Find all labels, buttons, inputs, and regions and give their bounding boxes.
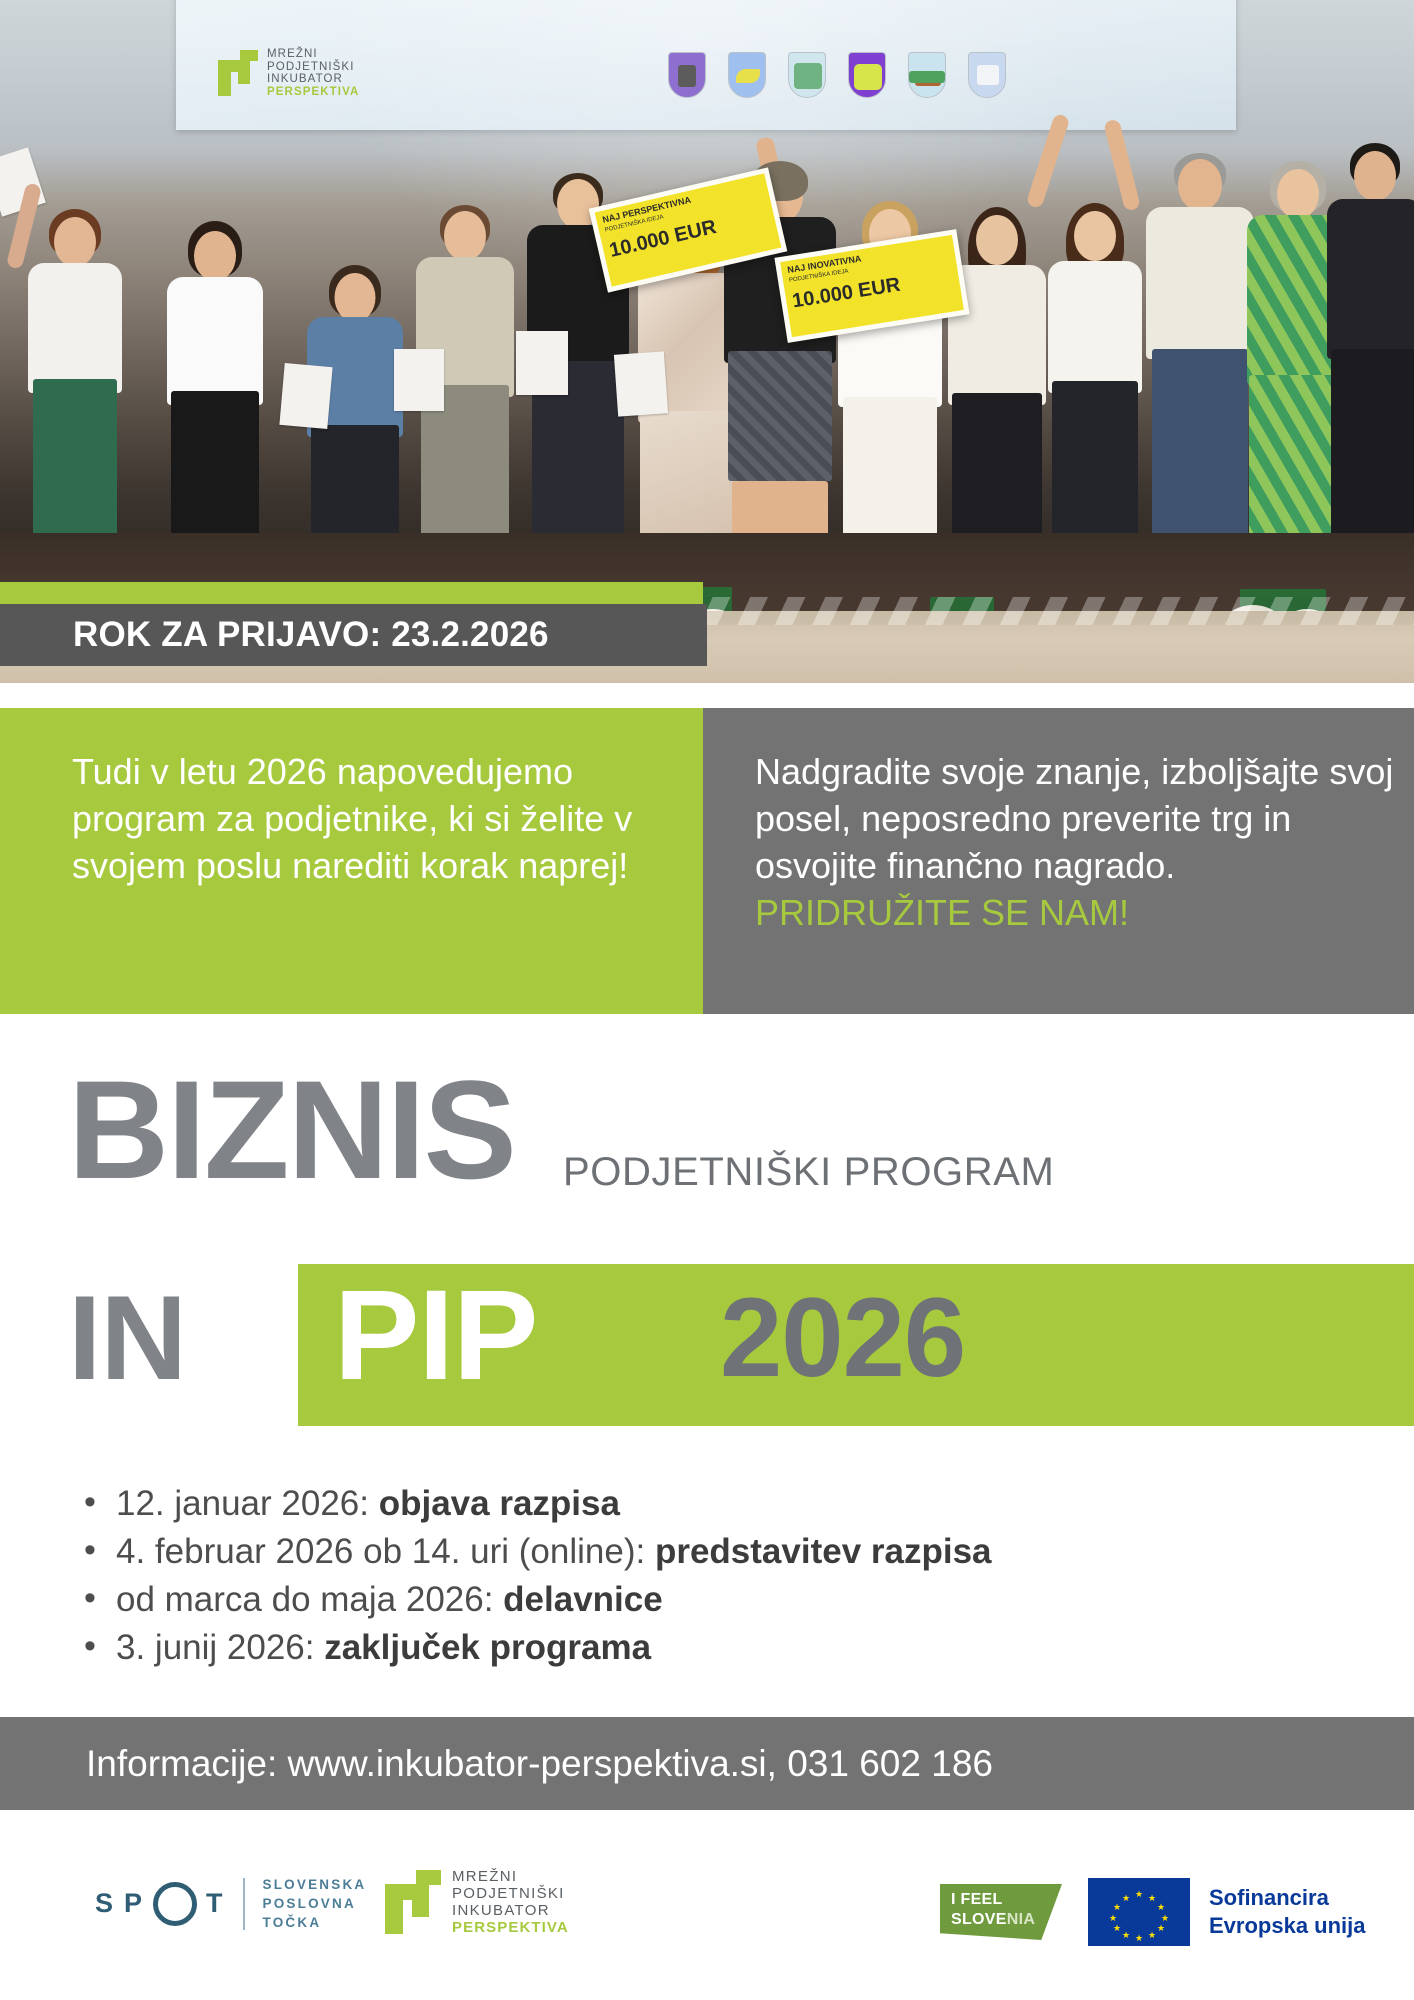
i-feel-slovenia-shape: I FEEL SLOVENIA [940, 1884, 1062, 1940]
person [10, 165, 140, 565]
intro-panels: Tudi v letu 2026 napovedujemo program za… [0, 708, 1414, 1014]
panel-green-text: Tudi v letu 2026 napovedujemo program za… [72, 748, 703, 889]
info-banner: Informacije: www.inkubator-perspektiva.s… [0, 1717, 1414, 1810]
panel-gray-cta: PRIDRUŽITE SE NAM! [755, 889, 1414, 936]
title-block: BIZNIS PODJETNIŠKI PROGRAM IN PIP 2026 [0, 1060, 1414, 1440]
i-feel-line2-rest: NIA [1007, 1911, 1035, 1928]
title-word-in: IN [68, 1278, 186, 1398]
i-feel-line2-strong: SLOVE [951, 1911, 1007, 1928]
spot-tagline: SLOVENSKA POSLOVNA TOČKA [263, 1875, 367, 1932]
panel-gray-text: Nadgradite svoje znanje, izboljšajte svo… [755, 748, 1414, 889]
perspektiva-line2: PODJETNIŠKI [452, 1885, 569, 1902]
deadline-banner: ROK ZA PRIJAVO: 23.2.2026 [0, 604, 707, 666]
schedule-date: od marca do maja 2026: [116, 1580, 503, 1619]
spot-wordmark: S P T [95, 1882, 225, 1926]
info-text[interactable]: Informacije: www.inkubator-perspektiva.s… [86, 1743, 993, 1785]
coat-of-arms-icon [728, 52, 766, 98]
title-word-biznis: BIZNIS [68, 1060, 515, 1200]
title-year: 2026 [720, 1282, 965, 1394]
municipal-coats-of-arms [668, 52, 1006, 98]
coat-of-arms-icon [908, 52, 946, 98]
title-word-pip: PIP [334, 1272, 537, 1400]
person [150, 173, 280, 565]
schedule-date: 3. junij 2026: [116, 1628, 324, 1667]
spot-divider [243, 1878, 245, 1930]
spot-letter-t: T [206, 1888, 225, 1919]
hero-photo: MREŽNI PODJETNIŠKI INKUBATOR PERSPEKTIVA [0, 0, 1414, 683]
perspektiva-mark-icon [218, 50, 258, 96]
spot-tagline-line2: POSLOVNA [263, 1894, 367, 1913]
screen-logo-line2: PODJETNIŠKI [267, 61, 359, 74]
deadline-accent-stripe [0, 582, 703, 604]
list-item: od marca do maja 2026: delavnice [70, 1576, 1390, 1624]
perspektiva-line1: MREŽNI [452, 1868, 569, 1885]
perspektiva-mark-icon [385, 1870, 441, 1934]
panel-gray: Nadgradite svoje znanje, izboljšajte svo… [703, 708, 1414, 1014]
perspektiva-logo: MREŽNI PODJETNIŠKI INKUBATOR PERSPEKTIVA [385, 1868, 569, 1936]
deadline-label: ROK ZA PRIJAVO: 23.2.2026 [73, 615, 549, 655]
coat-of-arms-icon [848, 52, 886, 98]
spot-tagline-line1: SLOVENSKA [263, 1875, 367, 1894]
schedule-date: 4. februar 2026 ob 14. uri (online): [116, 1532, 655, 1571]
spot-letter-p: P [124, 1888, 144, 1919]
spot-letter-s: S [95, 1888, 115, 1919]
perspektiva-line4: PERSPEKTIVA [452, 1919, 569, 1936]
screen-logo-text: MREŽNI PODJETNIŠKI INKUBATOR PERSPEKTIVA [267, 48, 359, 98]
spot-circle-icon [153, 1882, 197, 1926]
panel-green: Tudi v letu 2026 napovedujemo program za… [0, 708, 703, 1014]
i-feel-slovenia-logo: I FEEL SLOVENIA [940, 1884, 1062, 1940]
list-item: 3. junij 2026: zaključek programa [70, 1624, 1390, 1672]
spot-logo: S P T SLOVENSKA POSLOVNA TOČKA [95, 1875, 366, 1932]
eu-flag-icon: ★ ★ ★ ★ ★ ★ ★ ★ ★ ★ ★ ★ [1088, 1878, 1190, 1946]
eu-funding-logo: ★ ★ ★ ★ ★ ★ ★ ★ ★ ★ ★ ★ Sofinancira Evro… [1088, 1878, 1366, 1946]
coat-of-arms-icon [968, 52, 1006, 98]
list-item: 4. februar 2026 ob 14. uri (online): pre… [70, 1528, 1390, 1576]
i-feel-line1: I FEEL [951, 1891, 1003, 1909]
eu-label-line2: Evropska unija [1209, 1912, 1366, 1940]
schedule-date: 12. januar 2026: [116, 1484, 379, 1523]
i-feel-line2: SLOVENIA [951, 1911, 1035, 1929]
coat-of-arms-icon [788, 52, 826, 98]
screen-perspektiva-logo: MREŽNI PODJETNIŠKI INKUBATOR PERSPEKTIVA [218, 48, 359, 98]
perspektiva-logo-text: MREŽNI PODJETNIŠKI INKUBATOR PERSPEKTIVA [452, 1868, 569, 1936]
screen-logo-line1: MREŽNI [267, 48, 359, 61]
eu-funding-label: Sofinancira Evropska unija [1209, 1884, 1366, 1940]
award-winners-group: NAJ PERSPEKTIVNA PODJETNIŠKA IDEJA 10.00… [0, 95, 1414, 565]
list-item: 12. januar 2026: objava razpisa [70, 1480, 1390, 1528]
schedule-event: objava razpisa [379, 1484, 620, 1523]
screen-logo-line3: INKUBATOR [267, 73, 359, 86]
schedule-event: predstavitev razpisa [655, 1532, 992, 1571]
spot-tagline-line3: TOČKA [263, 1913, 367, 1932]
person [1320, 137, 1414, 565]
schedule-event: zaključek programa [324, 1628, 651, 1667]
footer-logos: S P T SLOVENSKA POSLOVNA TOČKA MREŽNI PO… [0, 1830, 1414, 2000]
coat-of-arms-icon [668, 52, 706, 98]
title-subtitle: PODJETNIŠKI PROGRAM [563, 1150, 1054, 1195]
schedule-event: delavnice [503, 1580, 663, 1619]
eu-label-line1: Sofinancira [1209, 1884, 1366, 1912]
schedule-list: 12. januar 2026: objava razpisa 4. febru… [70, 1480, 1390, 1672]
perspektiva-line3: INKUBATOR [452, 1902, 569, 1919]
